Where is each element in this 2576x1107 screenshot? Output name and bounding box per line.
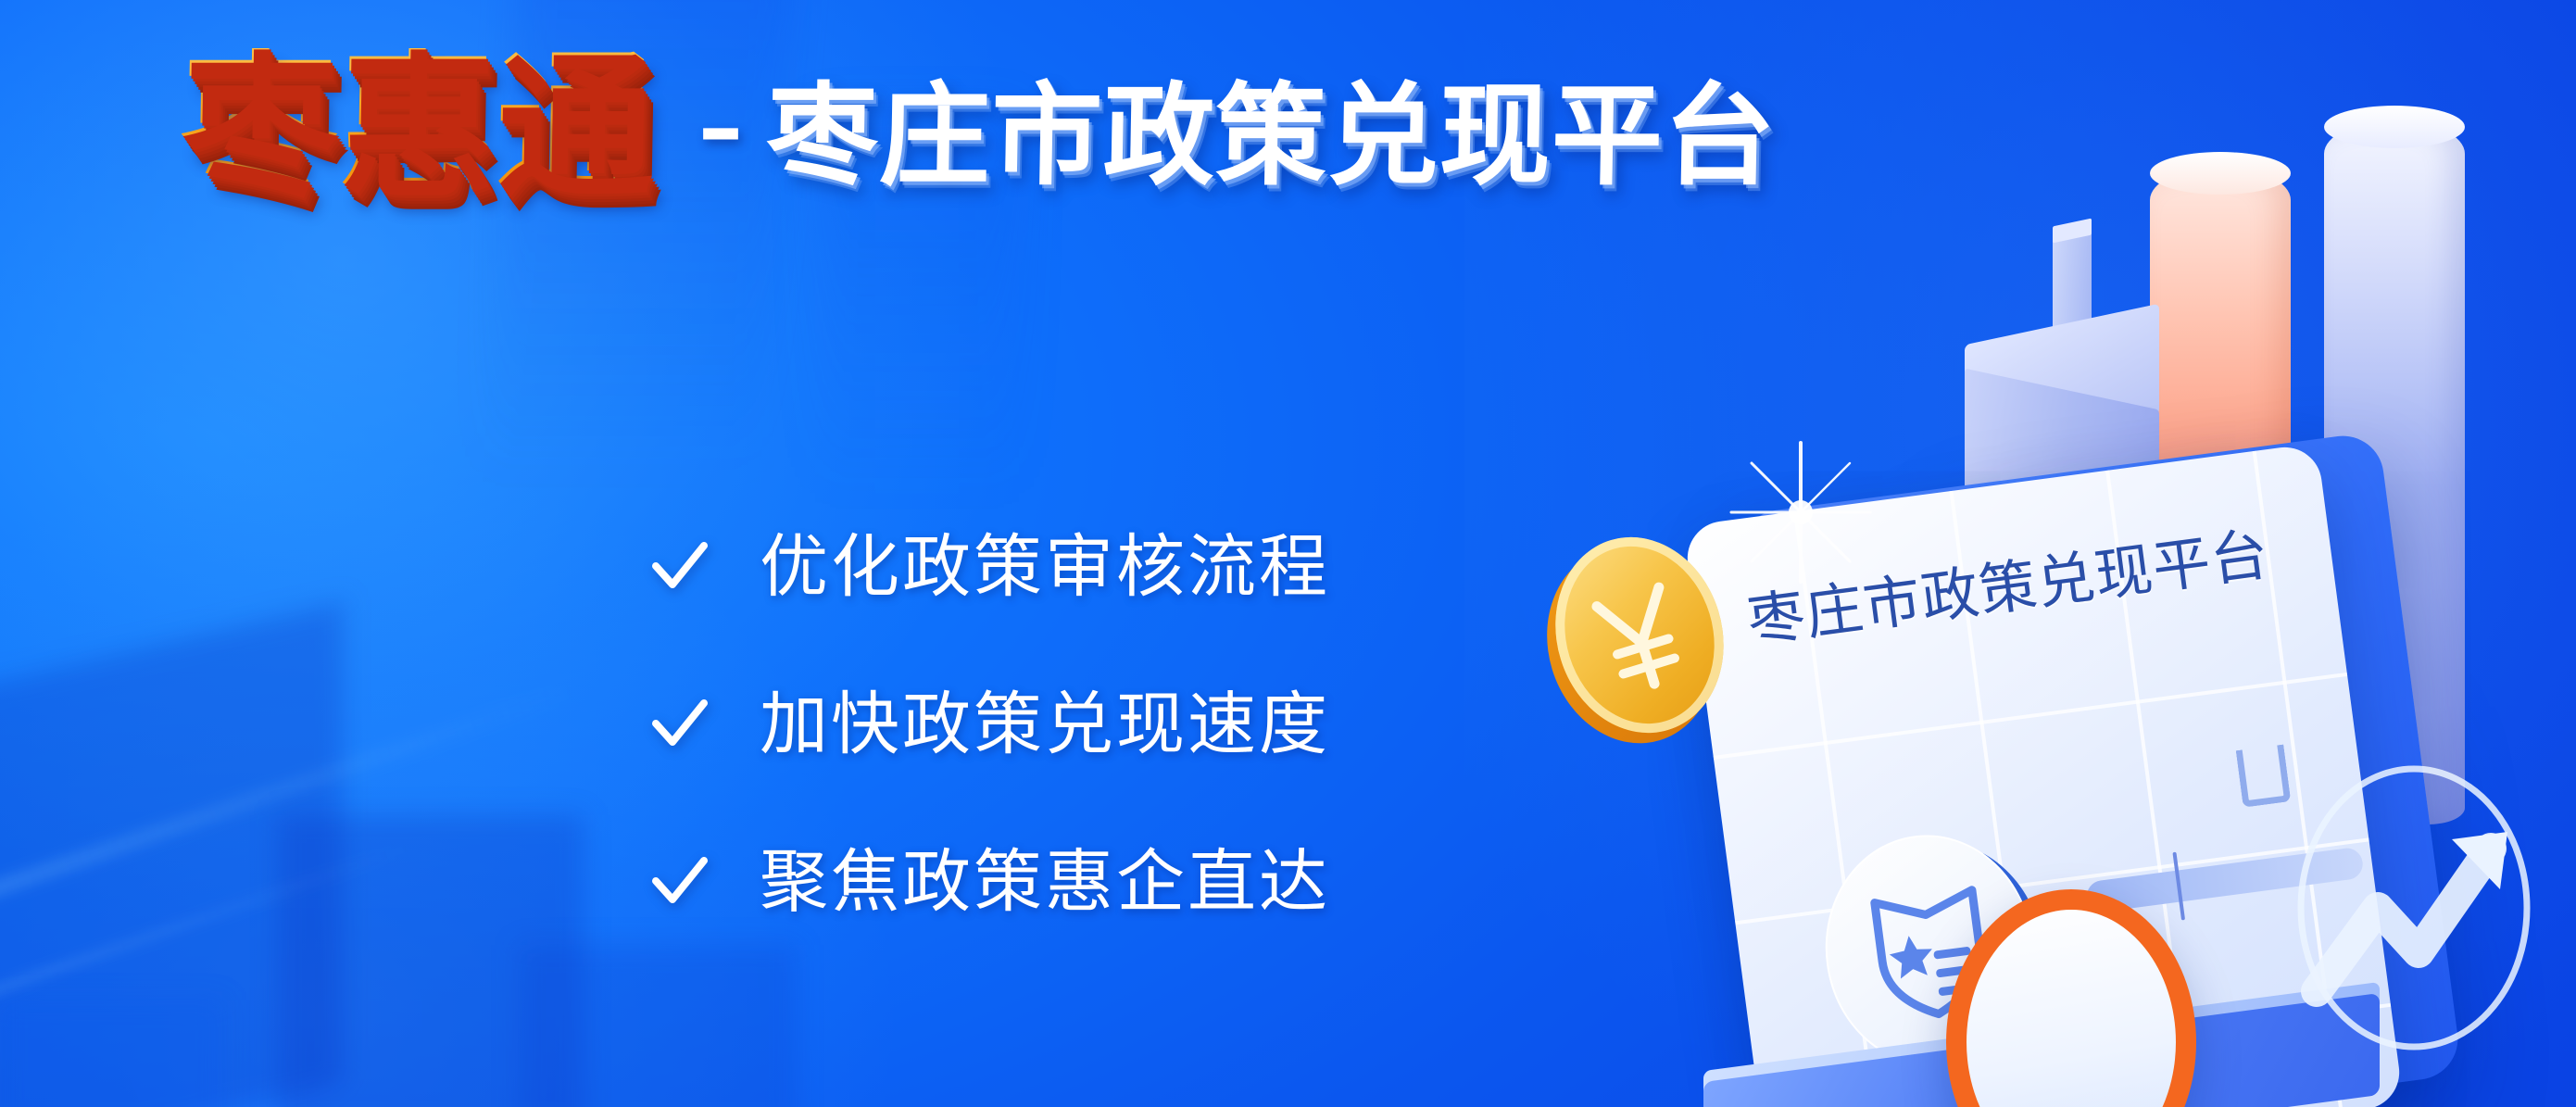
feature-item-2: 加快政策兑现速度	[648, 690, 1330, 759]
policy-platform-banner: 枣惠通 – 枣庄市政策兑现平台 优化政策审核流程 加快政策兑现速度 聚焦政策惠企…	[0, 0, 2576, 1107]
banner-illustration: 枣庄市政策兑现平台	[1603, 111, 2576, 1107]
feature-list: 优化政策审核流程 加快政策兑现速度 聚焦政策惠企直达	[648, 533, 1330, 916]
background-diagonal-streak-2	[0, 842, 412, 1038]
trend-arrow-cycle-icon	[2280, 760, 2548, 1056]
background-shape-block-4	[0, 1000, 222, 1107]
sparkle-icon	[1713, 424, 1889, 600]
bar-chart-cylinder-blue-cap	[2324, 106, 2465, 148]
feature-label-1: 优化政策审核流程	[760, 533, 1330, 601]
title-separator: –	[698, 83, 743, 172]
brand-title: 枣惠通	[181, 48, 663, 204]
check-icon	[648, 536, 710, 598]
check-icon	[648, 694, 710, 755]
banner-headline: 枣惠通 – 枣庄市政策兑现平台	[182, 48, 1776, 204]
background-shape-block-2	[278, 815, 584, 1107]
feature-item-3: 聚焦政策惠企直达	[648, 848, 1330, 916]
background-shape-block-1	[0, 602, 343, 1107]
check-icon	[648, 851, 710, 912]
feature-label-3: 聚焦政策惠企直达	[760, 848, 1330, 916]
background-diagonal-streak-1	[0, 683, 576, 926]
background-shape-block-3	[519, 945, 797, 1107]
feature-item-1: 优化政策审核流程	[648, 533, 1330, 601]
feature-label-2: 加快政策兑现速度	[760, 690, 1330, 759]
bar-chart-cylinder-coral-cap	[2150, 152, 2291, 195]
